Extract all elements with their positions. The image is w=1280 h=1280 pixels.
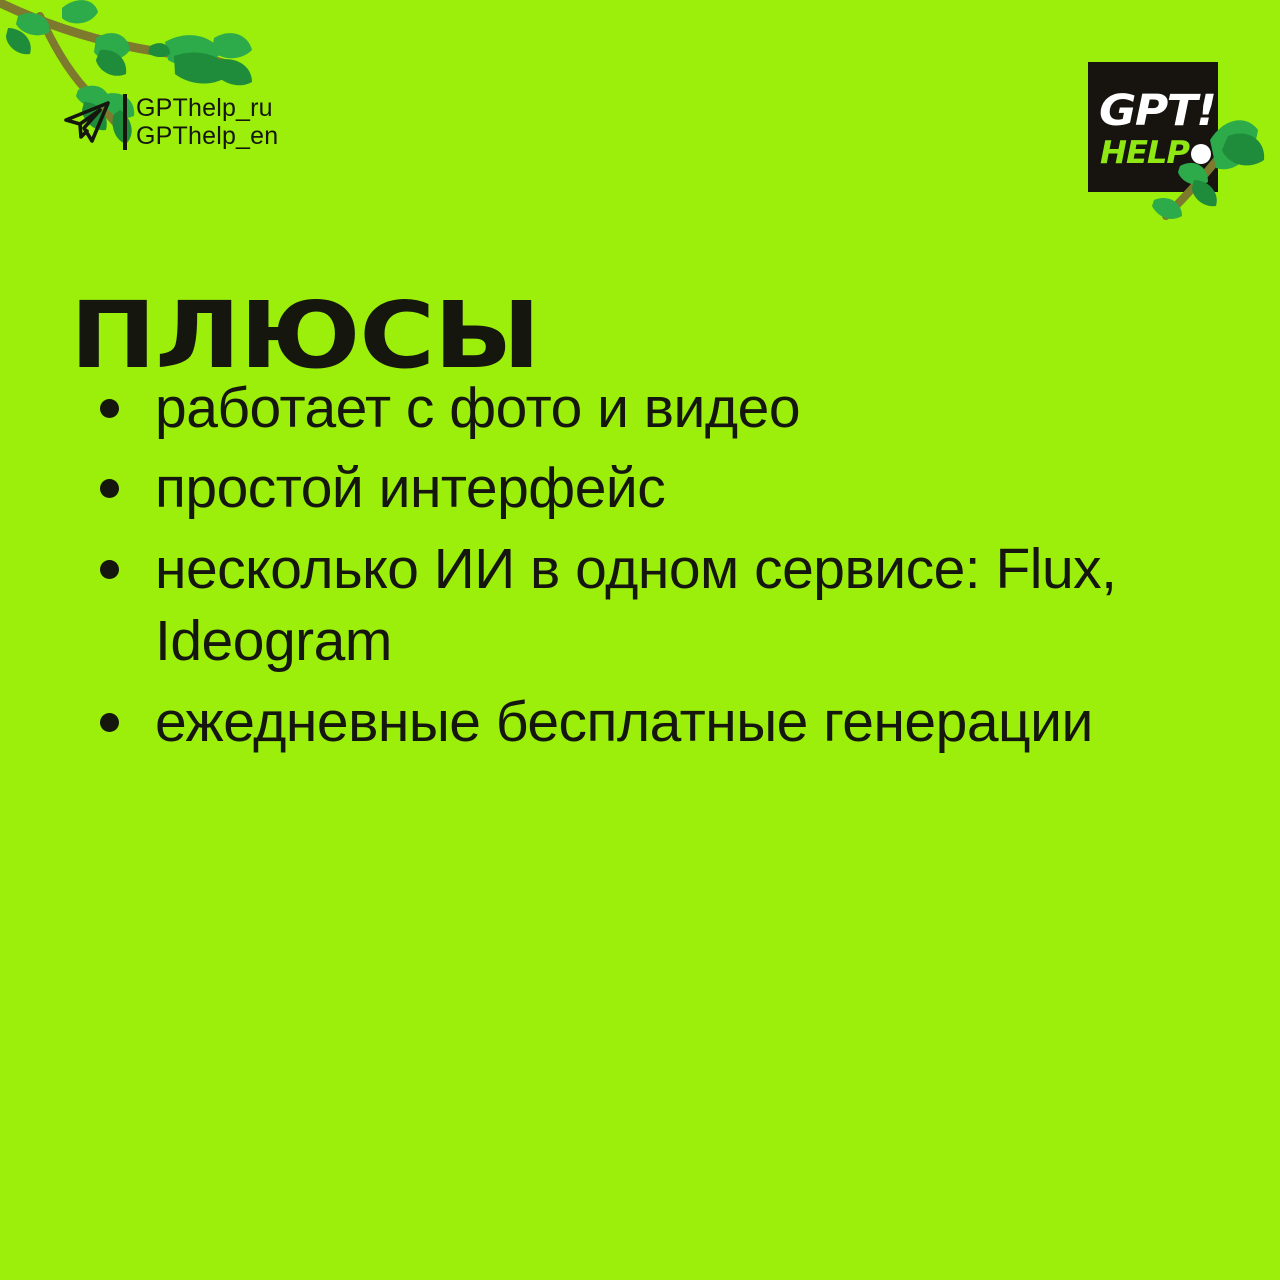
promo-slide: GPThelp_ru GPThelp_en GPT! HELP ПЛЮСЫ ра…	[0, 0, 1280, 1280]
logo-dot-icon	[1191, 144, 1211, 164]
bullet-icon	[100, 713, 119, 732]
telegram-handle-ru[interactable]: GPThelp_ru	[136, 94, 278, 122]
telegram-handle-en[interactable]: GPThelp_en	[136, 122, 278, 150]
list-item: несколько ИИ в одном сервисе: Flux, Ideo…	[100, 533, 1220, 678]
telegram-handles-block[interactable]: GPThelp_ru GPThelp_en	[62, 94, 278, 150]
logo-wordmark-gpt: GPT!	[1099, 90, 1215, 133]
logo-wordmark-help: HELP	[1100, 138, 1189, 169]
bullet-icon	[100, 560, 119, 579]
benefit-text: простой интерфейс	[155, 452, 665, 524]
handle-list: GPThelp_ru GPThelp_en	[136, 94, 278, 150]
list-item: простой интерфейс	[100, 452, 1220, 524]
benefit-text: ежедневные бесплатные генерации	[155, 686, 1093, 758]
telegram-paper-plane-icon	[62, 99, 114, 145]
benefit-text: работает с фото и видео	[155, 372, 800, 444]
logo-wordmark-help-row: HELP	[1100, 138, 1211, 169]
list-item: ежедневные бесплатные генерации	[100, 686, 1220, 758]
list-item: работает с фото и видео	[100, 372, 1220, 444]
handle-divider	[123, 94, 127, 150]
benefit-text: несколько ИИ в одном сервисе: Flux, Ideo…	[155, 533, 1185, 678]
benefits-list: работает с фото и видео простой интерфей…	[100, 372, 1220, 766]
bullet-icon	[100, 479, 119, 498]
page-title: ПЛЮСЫ	[70, 290, 540, 382]
brand-logo[interactable]: GPT! HELP	[1088, 62, 1218, 192]
bullet-icon	[100, 399, 119, 418]
